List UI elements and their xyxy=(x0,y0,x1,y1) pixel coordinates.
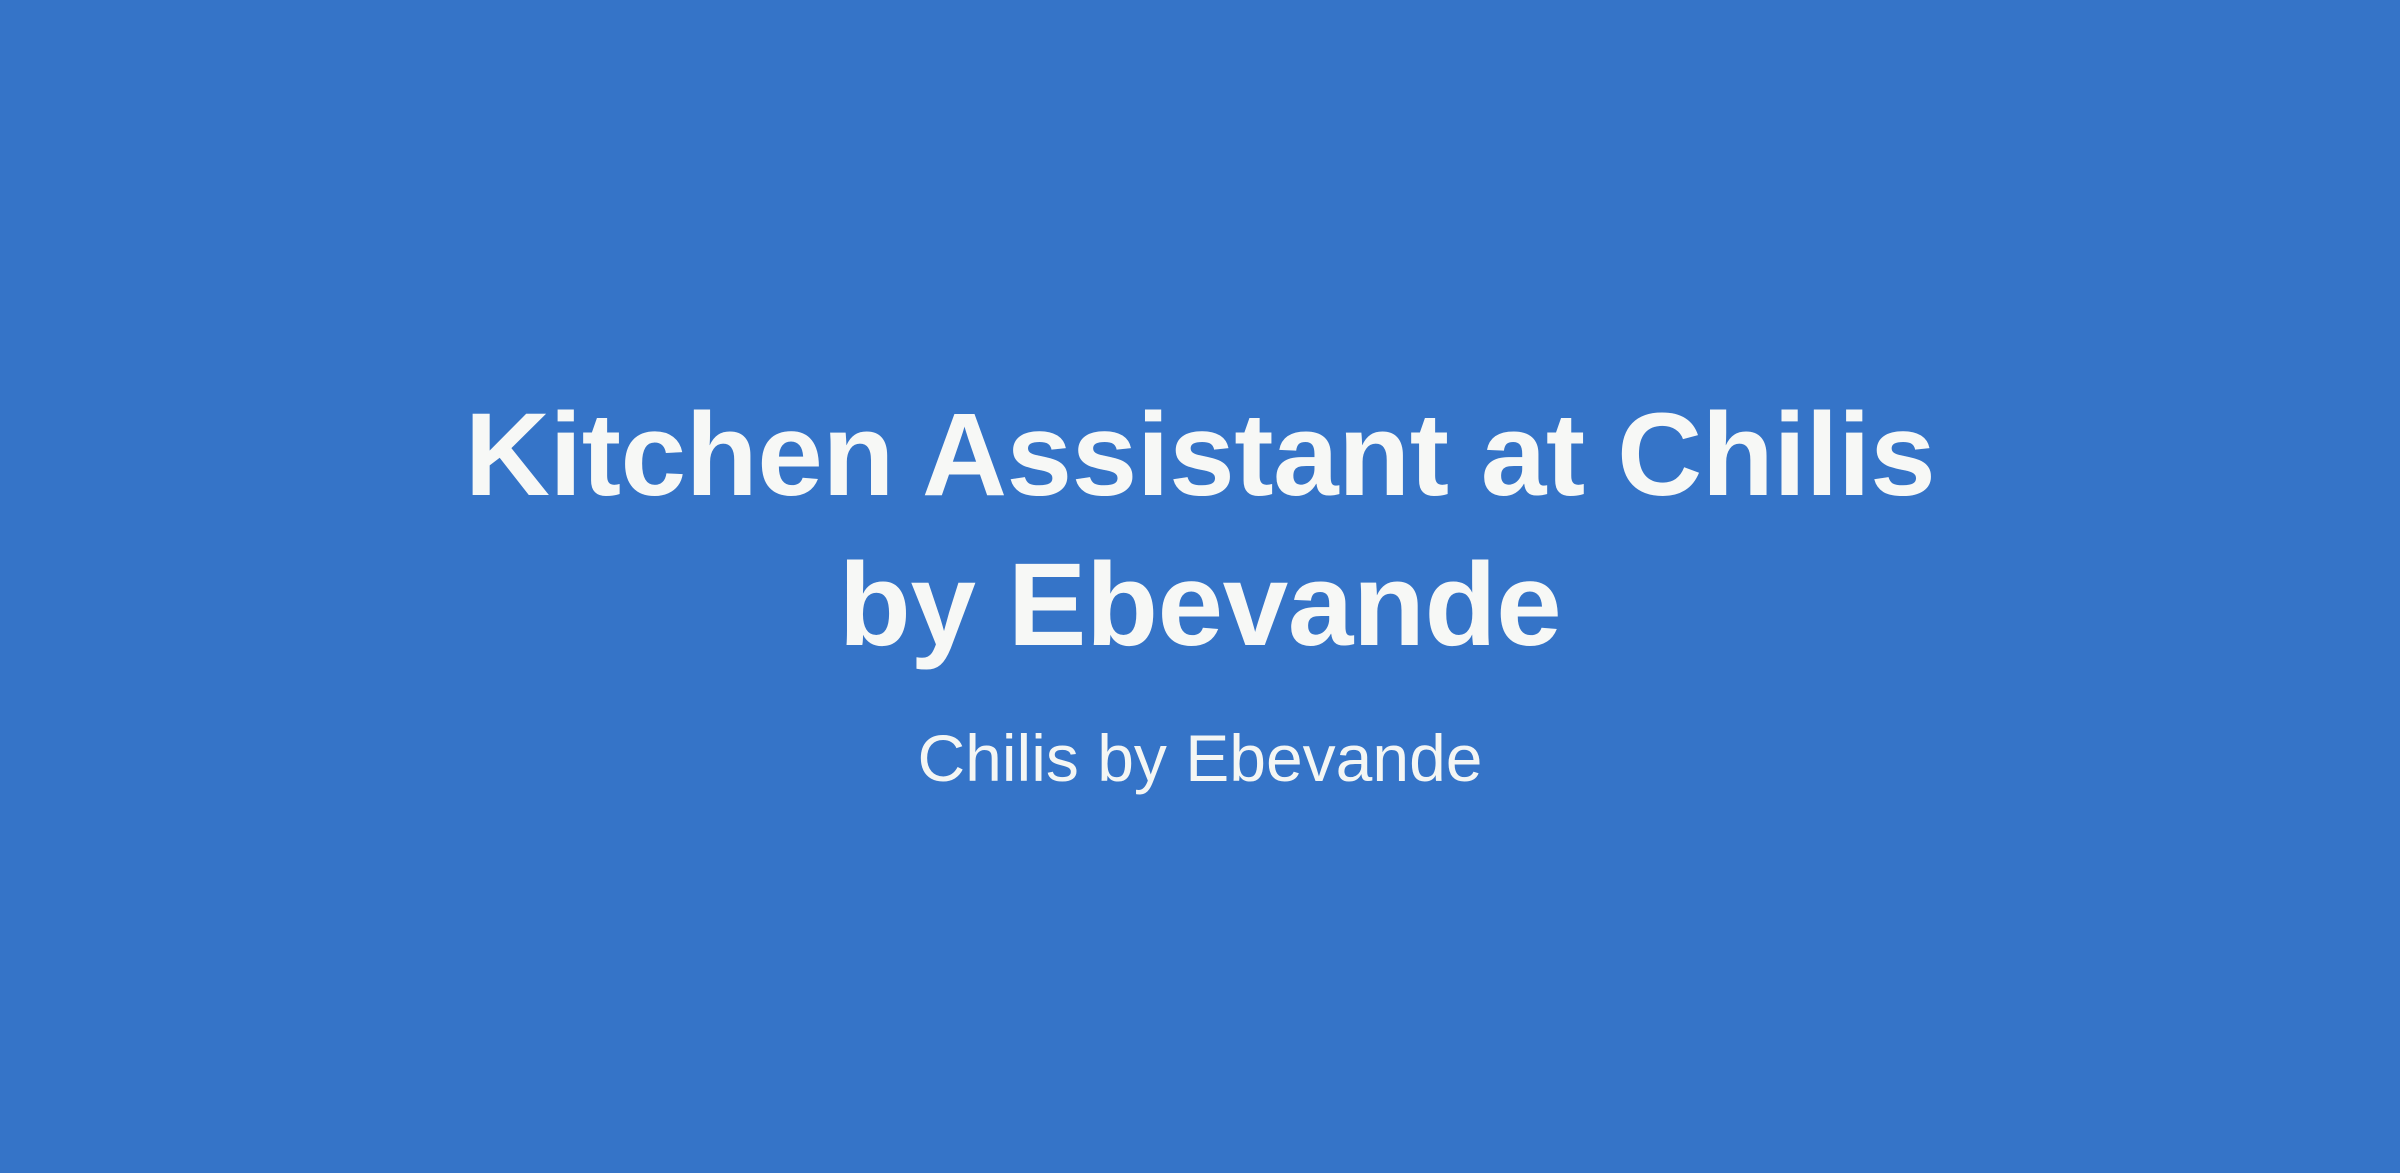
hero-content: Kitchen Assistant at Chilis by Ebevande … xyxy=(0,0,2400,1173)
page-title: Kitchen Assistant at Chilis by Ebevande xyxy=(420,380,1980,680)
page-subtitle: Chilis by Ebevande xyxy=(300,718,2100,798)
hero-card: Kitchen Assistant at Chilis by Ebevande … xyxy=(0,0,2400,1173)
